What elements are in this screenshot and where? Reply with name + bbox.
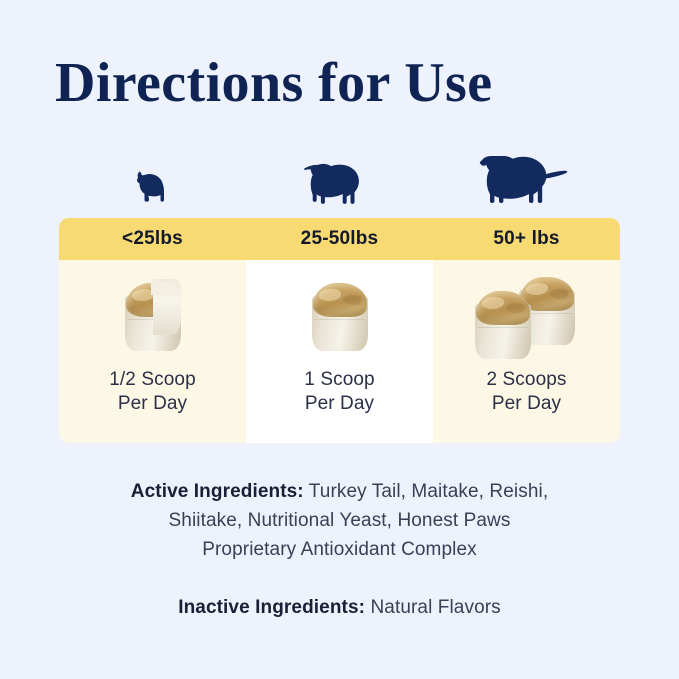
- dosage-column-medium: 1 Scoop Per Day: [246, 260, 433, 443]
- inactive-ingredients-value: Natural Flavors: [365, 597, 501, 618]
- active-ingredients-line-1: Active Ingredients: Turkey Tail, Maitake…: [0, 478, 679, 507]
- medium-dog-cell: [246, 140, 433, 210]
- half-scoop-image: [59, 260, 246, 368]
- dosage-table-header: <25lbs 25-50lbs 50+ lbs: [59, 218, 620, 260]
- two-scoops-image: [433, 260, 620, 368]
- active-ingredients-line-3: Proprietary Antioxidant Complex: [0, 536, 679, 565]
- half-scoop-icon: [125, 277, 181, 351]
- small-dog-cell: [59, 140, 246, 210]
- medium-dog-silhouette-icon: [298, 152, 382, 210]
- dosage-amount-large: 2 Scoops: [486, 368, 566, 392]
- header-weight-large: 50+ lbs: [433, 218, 620, 260]
- one-scoop-image: [246, 260, 433, 368]
- inactive-ingredients-label: Inactive Ingredients:: [178, 597, 365, 618]
- header-weight-small: <25lbs: [59, 218, 246, 260]
- dosage-caption-medium: 1 Scoop Per Day: [304, 368, 374, 417]
- dosage-column-small: 1/2 Scoop Per Day: [59, 260, 246, 443]
- dosage-column-large: 2 Scoops Per Day: [433, 260, 620, 443]
- dog-size-row: [59, 140, 620, 210]
- dosage-caption-large: 2 Scoops Per Day: [486, 368, 566, 417]
- dosage-frequency-small: Per Day: [109, 392, 195, 416]
- dosage-card: <25lbs 25-50lbs 50+ lbs 1/2 Scoop Per Da…: [59, 218, 620, 443]
- dosage-amount-medium: 1 Scoop: [304, 368, 374, 392]
- dosage-table-body: 1/2 Scoop Per Day 1 Scoop Per Day: [59, 260, 620, 443]
- scoop-front: [475, 285, 531, 359]
- page-title: Directions for Use: [55, 55, 492, 111]
- directions-for-use-page: Directions for Use: [0, 0, 679, 679]
- small-dog-silhouette-icon: [126, 168, 180, 210]
- one-scoop-icon: [312, 277, 368, 351]
- dosage-amount-small: 1/2 Scoop: [109, 368, 195, 392]
- large-dog-silhouette-icon: [475, 146, 579, 210]
- active-ingredients-text-1: Turkey Tail, Maitake, Reishi,: [304, 481, 548, 502]
- active-ingredients-block: Active Ingredients: Turkey Tail, Maitake…: [0, 478, 679, 565]
- header-weight-medium: 25-50lbs: [246, 218, 433, 260]
- dosage-frequency-medium: Per Day: [304, 392, 374, 416]
- dosage-frequency-large: Per Day: [486, 392, 566, 416]
- two-scoops-icon: [475, 271, 579, 357]
- active-ingredients-label: Active Ingredients:: [131, 481, 304, 502]
- inactive-ingredients-block: Inactive Ingredients: Natural Flavors: [0, 594, 679, 623]
- inactive-ingredients-line: Inactive Ingredients: Natural Flavors: [0, 594, 679, 623]
- large-dog-cell: [433, 140, 620, 210]
- active-ingredients-line-2: Shiitake, Nutritional Yeast, Honest Paws: [0, 507, 679, 536]
- dosage-caption-small: 1/2 Scoop Per Day: [109, 368, 195, 417]
- ingredients-section: Active Ingredients: Turkey Tail, Maitake…: [0, 478, 679, 623]
